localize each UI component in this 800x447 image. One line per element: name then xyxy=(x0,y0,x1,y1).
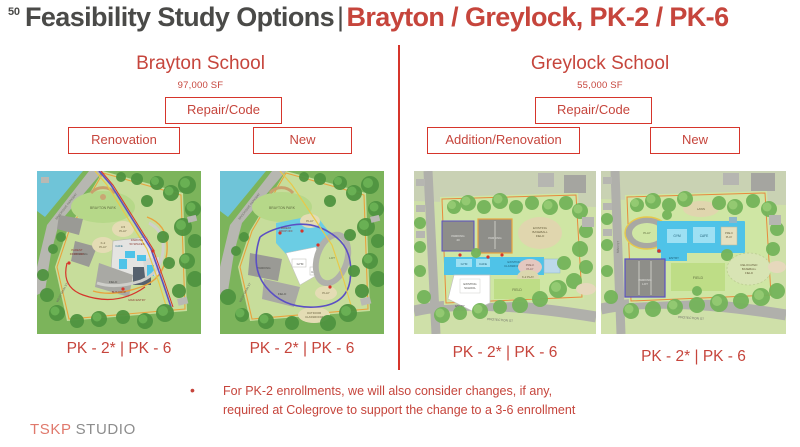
svg-text:50 SPACES: 50 SPACES xyxy=(129,242,144,246)
brayton-renovation-svg: BRAYTON PARK PARKING 3-5 PLAY K-2 PLAY xyxy=(37,171,201,334)
svg-text:K-2 PLAY: K-2 PLAY xyxy=(522,275,534,279)
brayton-panel: Brayton School 97,000 SF Repair/Code Ren… xyxy=(8,45,393,370)
svg-text:DROP OFF: DROP OFF xyxy=(70,252,85,256)
title-separator: | xyxy=(337,2,343,32)
brayton-new-site-plan-image: BRAYTON PARK GYM CAFE PARKING FIELD xyxy=(220,171,384,334)
bullet-icon: • xyxy=(190,383,195,397)
svg-text:GYM: GYM xyxy=(297,262,304,266)
svg-text:ENTRY: ENTRY xyxy=(669,256,679,260)
title-main-text: Feasibility Study Options xyxy=(25,2,334,32)
title-accent-text: Brayton / Greylock, PK-2 / PK-6 xyxy=(346,2,728,32)
svg-text:MAIN ENTRY: MAIN ENTRY xyxy=(128,298,145,302)
svg-text:LAWN: LAWN xyxy=(697,207,705,211)
brayton-new-caption: PK - 2* | PK - 6 xyxy=(220,340,384,358)
svg-text:FIELD: FIELD xyxy=(745,271,753,275)
svg-text:FIELD: FIELD xyxy=(512,288,522,292)
svg-text:BRAYTON PARK: BRAYTON PARK xyxy=(269,206,296,210)
greylock-addition-svg: PARKING 40 PARKING EXISTING BASEBALL FIE… xyxy=(414,171,596,334)
slide-number: 50 xyxy=(8,6,20,18)
svg-text:40: 40 xyxy=(456,238,460,242)
slide-root: 50 Feasibility Study Options|Brayton / G… xyxy=(0,0,800,447)
greylock-panel: Greylock School 55,000 SF Repair/Code Ad… xyxy=(405,45,795,370)
footnote-line-1: For PK-2 enrollments, we will also consi… xyxy=(223,382,660,401)
greylock-school-area: 55,000 SF xyxy=(405,80,795,91)
svg-text:PLAY: PLAY xyxy=(306,219,313,223)
svg-text:FIELD: FIELD xyxy=(693,276,704,280)
svg-text:FIELD: FIELD xyxy=(536,234,545,238)
tskp-studio-logo: TSKPSTUDIO xyxy=(30,421,136,438)
brayton-plan-images: BRAYTON PARK PARKING 3-5 PLAY K-2 PLAY xyxy=(8,171,393,334)
vertical-divider xyxy=(398,45,400,370)
svg-text:FIELD: FIELD xyxy=(109,280,118,284)
brayton-label-new[interactable]: New xyxy=(253,127,352,154)
svg-text:FIELD: FIELD xyxy=(278,292,287,296)
greylock-new-svg: PLAY GYM CAFE PRE-K PLAY ENTRY xyxy=(601,171,786,334)
svg-text:CAFE: CAFE xyxy=(115,244,123,248)
svg-text:CAFE: CAFE xyxy=(479,262,487,266)
brayton-label-repair-code[interactable]: Repair/Code xyxy=(165,97,282,124)
svg-text:CAFE: CAFE xyxy=(700,234,709,238)
greylock-new-caption: PK - 2* | PK - 6 xyxy=(601,348,786,366)
svg-text:PRE-K: PRE-K xyxy=(725,231,733,235)
greylock-addition-site-plan-image: PARKING 40 PARKING EXISTING BASEBALL FIE… xyxy=(414,171,596,334)
brayton-captions: PK - 2* | PK - 6 PK - 2* | PK - 6 xyxy=(8,340,393,370)
svg-text:GYM: GYM xyxy=(461,262,468,266)
svg-text:LOT: LOT xyxy=(329,256,335,260)
svg-text:GYM: GYM xyxy=(673,234,681,238)
brayton-renovation-caption: PK - 2* | PK - 6 xyxy=(37,340,201,358)
footnote: • For PK-2 enrollments, we will also con… xyxy=(190,382,660,421)
svg-text:PLAY: PLAY xyxy=(119,229,126,233)
greylock-new-site-plan-image: PLAY GYM CAFE PRE-K PLAY ENTRY xyxy=(601,171,786,334)
greylock-label-new[interactable]: New xyxy=(650,127,740,154)
svg-text:LOT: LOT xyxy=(642,282,648,286)
greylock-plan-images: PARKING 40 PARKING EXISTING BASEBALL FIE… xyxy=(405,171,795,334)
logo-primary-text: TSKP xyxy=(30,421,72,438)
svg-text:BRAYTON PARK: BRAYTON PARK xyxy=(90,206,117,210)
svg-text:PLAY: PLAY xyxy=(643,231,650,235)
greylock-addition-caption: PK - 2* | PK - 6 xyxy=(414,344,596,362)
logo-secondary-text: STUDIO xyxy=(76,421,136,438)
greylock-option-labels: Repair/Code Addition/Renovation New xyxy=(405,97,795,165)
brayton-new-svg: BRAYTON PARK GYM CAFE PARKING FIELD xyxy=(220,171,384,334)
brayton-school-name: Brayton School xyxy=(8,53,393,75)
svg-text:SCHOOL: SCHOOL xyxy=(464,286,476,290)
svg-text:MAIN ST: MAIN ST xyxy=(616,241,620,253)
greylock-label-repair-code[interactable]: Repair/Code xyxy=(535,97,652,124)
brayton-renovation-site-plan-image: BRAYTON PARK PARKING 3-5 PLAY K-2 PLAY xyxy=(37,171,201,334)
svg-text:BUS DROP: BUS DROP xyxy=(112,290,127,294)
svg-text:DROP OFF: DROP OFF xyxy=(279,229,293,233)
greylock-school-name: Greylock School xyxy=(405,53,795,75)
brayton-school-area: 97,000 SF xyxy=(8,80,393,91)
svg-text:PLAY: PLAY xyxy=(726,235,733,239)
greylock-captions: PK - 2* | PK - 6 PK - 2* | PK - 6 xyxy=(405,340,795,370)
page-title: Feasibility Study Options|Brayton / Grey… xyxy=(25,2,729,33)
svg-text:PLAY: PLAY xyxy=(99,245,106,249)
svg-text:PLAY: PLAY xyxy=(322,291,329,295)
brayton-label-renovation[interactable]: Renovation xyxy=(68,127,180,154)
svg-text:PARKING: PARKING xyxy=(257,266,271,270)
footnote-line-2: required at Colegrove to support the cha… xyxy=(223,401,660,420)
svg-text:CLASSROOM: CLASSROOM xyxy=(305,315,324,319)
greylock-label-addition-renovation[interactable]: Addition/Renovation xyxy=(427,127,580,154)
brayton-option-labels: Repair/Code Renovation New xyxy=(8,97,393,165)
